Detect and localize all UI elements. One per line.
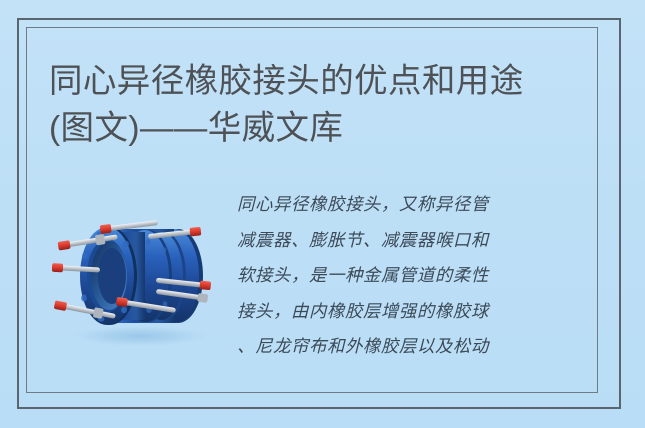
pipe-coupling-illustration (52, 206, 224, 354)
article-card: 同心异径橡胶接头的优点和用途 (图文)——华威文库 (0, 0, 645, 428)
article-body: 同心异径橡胶接头，又称异径管 减震器、膨胀节、减震器喉口和 软接头，是一种金属管… (237, 188, 583, 366)
page-title: 同心异径橡胶接头的优点和用途 (图文)——华威文库 (49, 58, 609, 152)
product-image (52, 206, 224, 354)
